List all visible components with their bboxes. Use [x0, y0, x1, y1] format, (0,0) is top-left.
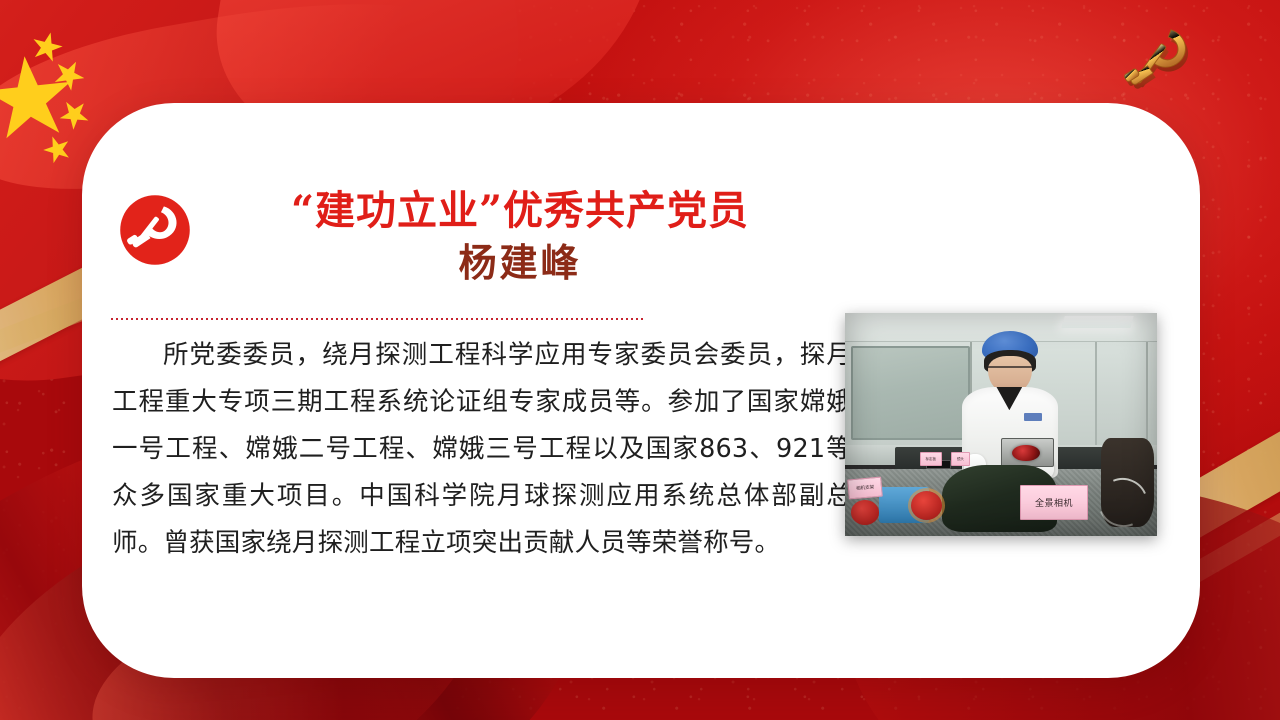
photo-wall-panel: [851, 346, 970, 440]
page-title: “建功立业”优秀共产党员: [196, 185, 844, 236]
person-name: 杨建峰: [196, 240, 844, 286]
photo-red-component-2: [911, 491, 942, 520]
photo-red-component-1: [851, 500, 879, 525]
biography-text: 所党委委员，绕月探测工程科学应用专家委员会委员，探月工程重大专项三期工程系统论证…: [112, 332, 852, 567]
content-card: “建功立业”优秀共产党员 杨建峰 所党委委员，绕月探测工程科学应用专家委员会委员…: [82, 103, 1200, 678]
photo-labcoat-logo: [1024, 413, 1042, 420]
dotted-divider: [111, 318, 646, 320]
flag-star-small-1: [29, 29, 65, 65]
photo-placard-small-3: 镜头: [951, 452, 970, 465]
party-emblem-icon: [1108, 18, 1216, 110]
card-header: “建功立业”优秀共产党员 杨建峰: [104, 185, 844, 287]
photo-placard-small-1: 相机支架: [847, 477, 883, 500]
slide-root: “建功立业”优秀共产党员 杨建峰 所党委委员，绕月探测工程科学应用专家委员会委员…: [0, 0, 1280, 720]
lab-photo: 全景相机 相机支架 标定板 镜头: [845, 313, 1157, 536]
photo-frame: 全景相机 相机支架 标定板 镜头: [845, 313, 1157, 536]
photo-placard-small-2: 标定板: [920, 452, 942, 465]
photo-person-glasses: [988, 366, 1032, 375]
photo-camera-lens: [1012, 445, 1040, 462]
flag-star-small-3: [54, 94, 95, 135]
flag-star-small-4: [39, 131, 77, 169]
photo-door-frame: [1095, 342, 1148, 445]
photo-placard-main: 全景相机: [1020, 485, 1089, 521]
party-emblem-badge-icon: [118, 193, 192, 267]
flag-star-large: [0, 52, 76, 147]
photo-ceiling-light: [1062, 316, 1134, 328]
title-block: “建功立业”优秀共产党员 杨建峰: [196, 185, 844, 287]
